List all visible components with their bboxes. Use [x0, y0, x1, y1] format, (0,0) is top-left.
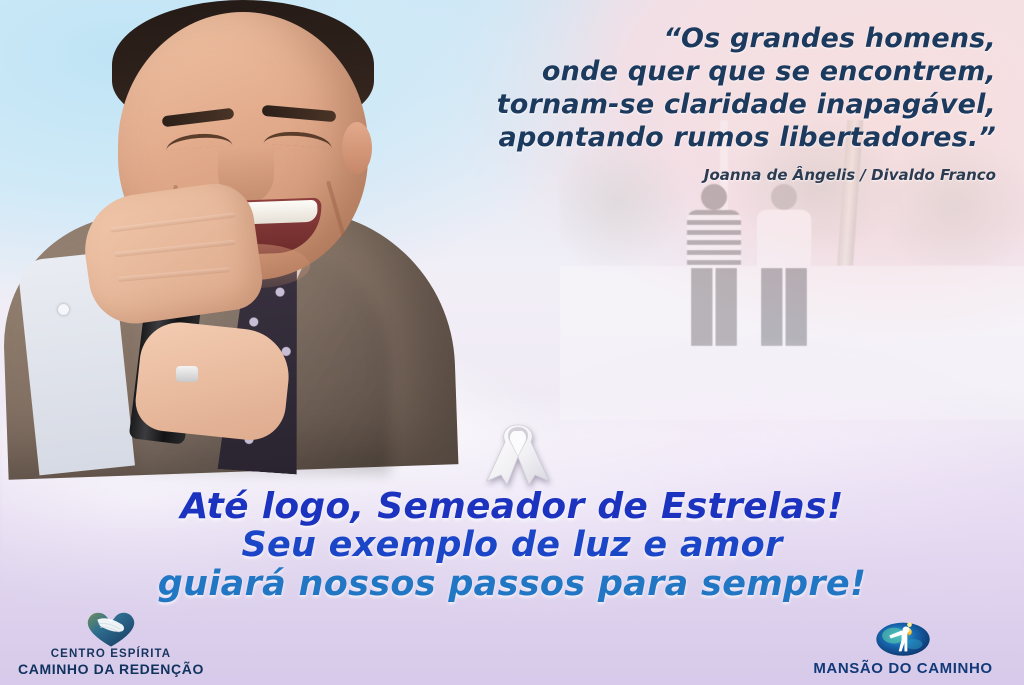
- torso: [757, 210, 811, 268]
- quote-line-1: “Os grandes homens,: [356, 22, 996, 55]
- ring: [176, 366, 198, 382]
- torso: [687, 210, 741, 268]
- quote-line-2: onde quer que se encontrem,: [356, 55, 996, 88]
- head: [701, 184, 727, 210]
- logo-left-line-1: CENTRO ESPÍRITA: [16, 648, 206, 660]
- logo-mansao-do-caminho: MANSÃO DO CAMINHO: [798, 617, 1008, 677]
- quote-line-4: apontando rumos libertadores.”: [356, 121, 996, 154]
- logo-left-line-2: CAMINHO DA REDENÇÃO: [16, 661, 206, 677]
- cuff-button: [58, 304, 69, 315]
- resting-hand: [78, 179, 266, 330]
- quote-attribution: Joanna de Ângelis / Divaldo Franco: [356, 166, 996, 184]
- heart-hands-icon: [16, 608, 206, 648]
- headline-line-2: Seu exemplo de luz e amor: [0, 526, 1024, 565]
- logo-right-line-1: MANSÃO DO CAMINHO: [798, 660, 1008, 677]
- head: [771, 184, 797, 210]
- person-white-shirt: [757, 184, 811, 346]
- quote-block: “Os grandes homens, onde quer que se enc…: [356, 22, 996, 184]
- headline-block: Até logo, Semeador de Estrelas! Seu exem…: [0, 487, 1024, 604]
- memorial-poster: “Os grandes homens, onde quer que se enc…: [0, 0, 1024, 685]
- logo-centro-espirita-caminho-da-redencao: CENTRO ESPÍRITA CAMINHO DA REDENÇÃO: [16, 608, 206, 677]
- mourning-ribbon-icon: [481, 409, 555, 485]
- person-striped-shirt: [687, 184, 741, 346]
- headline-line-3: guiará nossos passos para sempre!: [0, 565, 1024, 604]
- quote-line-3: tornam-se claridade inapagável,: [356, 88, 996, 121]
- headline-line-1: Até logo, Semeador de Estrelas!: [0, 487, 1024, 526]
- globe-figure-flame-icon: [798, 617, 1008, 657]
